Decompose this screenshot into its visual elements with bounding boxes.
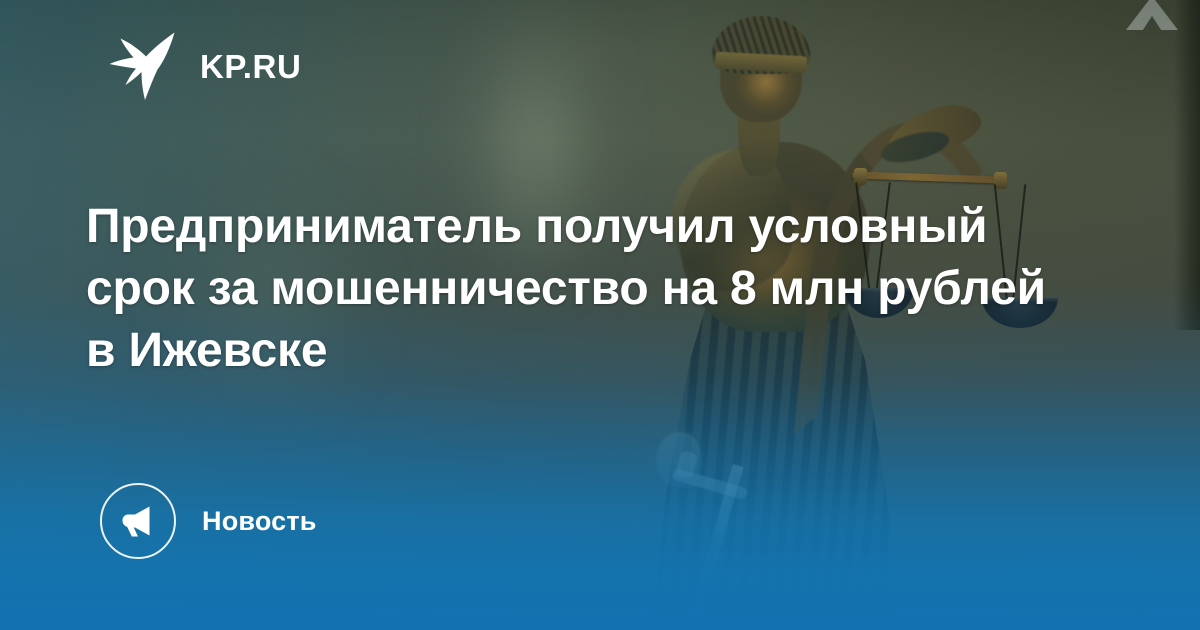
badge-circle	[100, 483, 176, 559]
status-badge[interactable]: Новость	[100, 484, 317, 558]
swallow-bird-icon	[108, 30, 178, 102]
page-title: Предприниматель получил условный срок за…	[86, 196, 1086, 382]
brand-name: KP.RU	[200, 50, 301, 83]
megaphone-icon	[120, 505, 156, 537]
brand-lockup[interactable]: KP.RU	[108, 30, 301, 102]
badge-label: Новость	[202, 506, 317, 537]
card-content: KP.RU Предприниматель получил условный с…	[0, 0, 1200, 630]
share-card: KP.RU Предприниматель получил условный с…	[0, 0, 1200, 630]
